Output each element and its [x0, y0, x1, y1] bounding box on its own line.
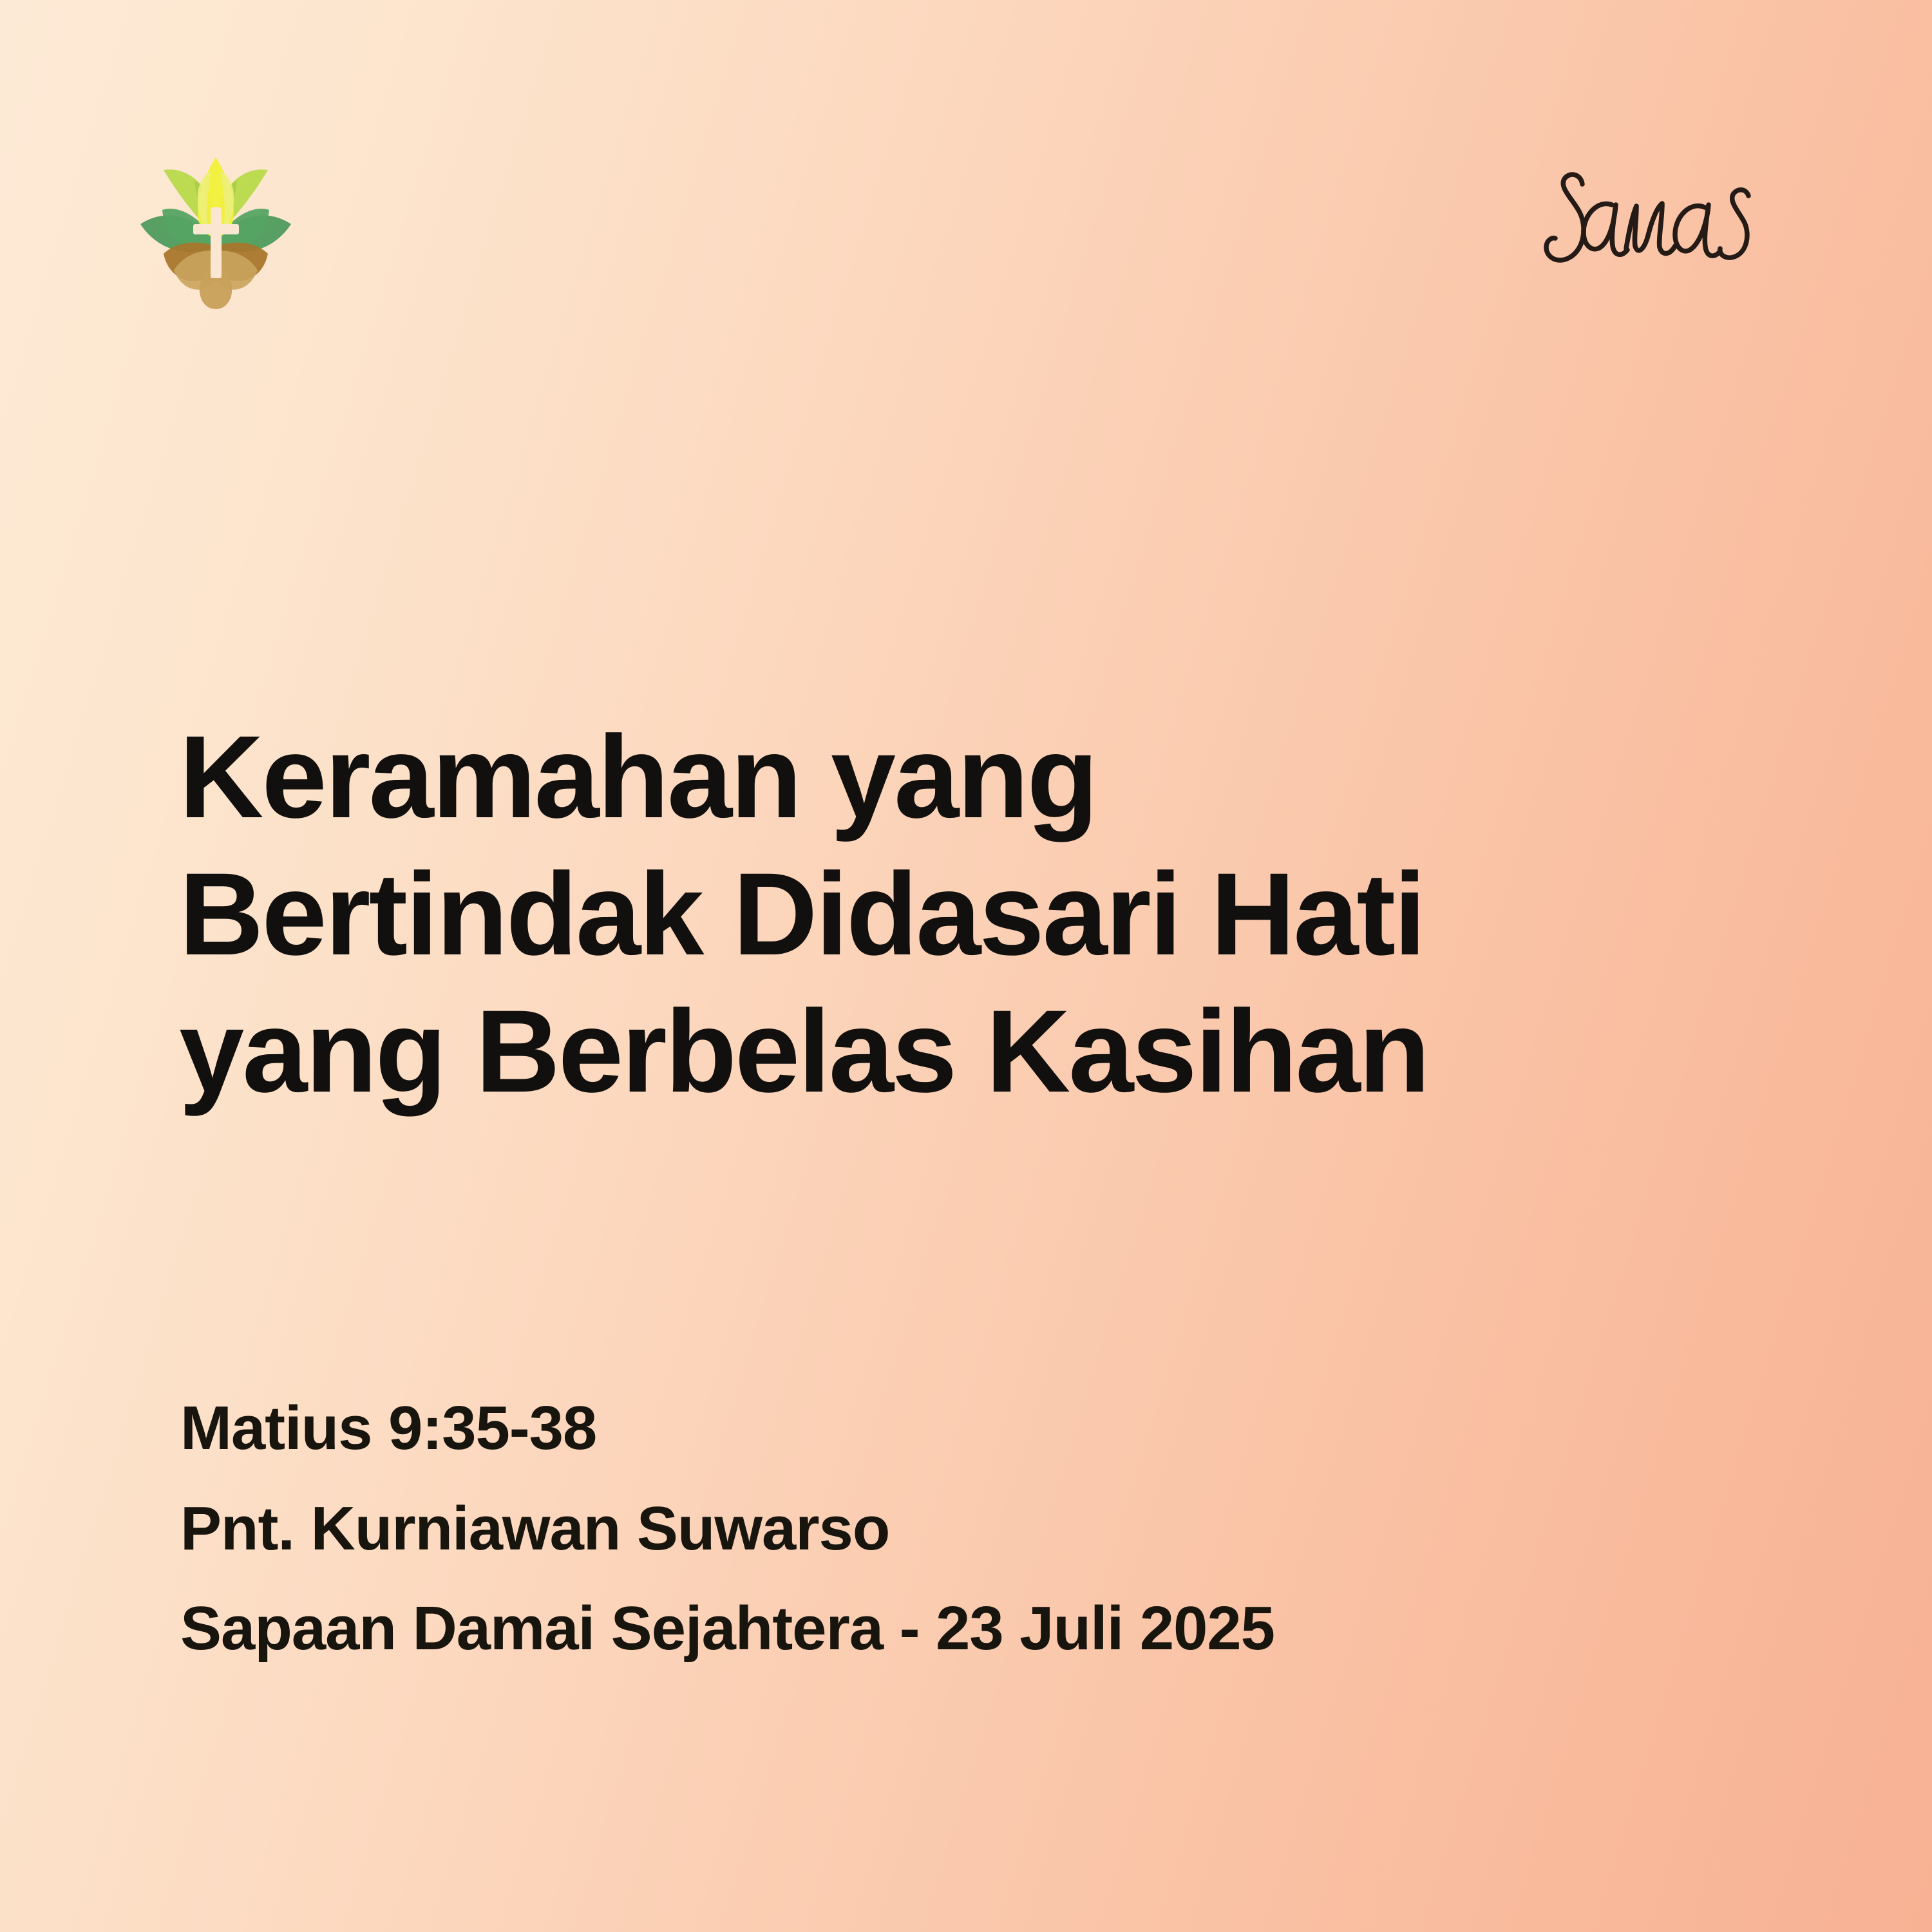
- headline-line-2: Bertindak Didasari Hati: [179, 846, 1757, 983]
- event-and-date: Sapaan Damai Sejahtera - 23 Juli 2025: [180, 1578, 1790, 1679]
- sermon-details: Matius 9:35-38 Pnt. Kurniawan Suwarso Sa…: [180, 1378, 1790, 1679]
- sermon-title-slide: Samas Keramahan yang Bertindak Didasari …: [0, 0, 1932, 1932]
- samas-wordmark: Samas: [1536, 160, 1800, 289]
- scripture-reference: Matius 9:35-38: [180, 1378, 1790, 1479]
- page-title: Keramahan yang Bertindak Didasari Hati y…: [179, 708, 1757, 1120]
- samas-wordmark-label: Samas: [1536, 160, 1568, 162]
- speaker-name: Pnt. Kurniawan Suwarso: [180, 1479, 1790, 1579]
- headline-line-3: yang Berbelas Kasihan: [179, 983, 1757, 1120]
- leaf-cross-logo-icon: [129, 143, 303, 317]
- headline-line-1: Keramahan yang: [179, 708, 1757, 846]
